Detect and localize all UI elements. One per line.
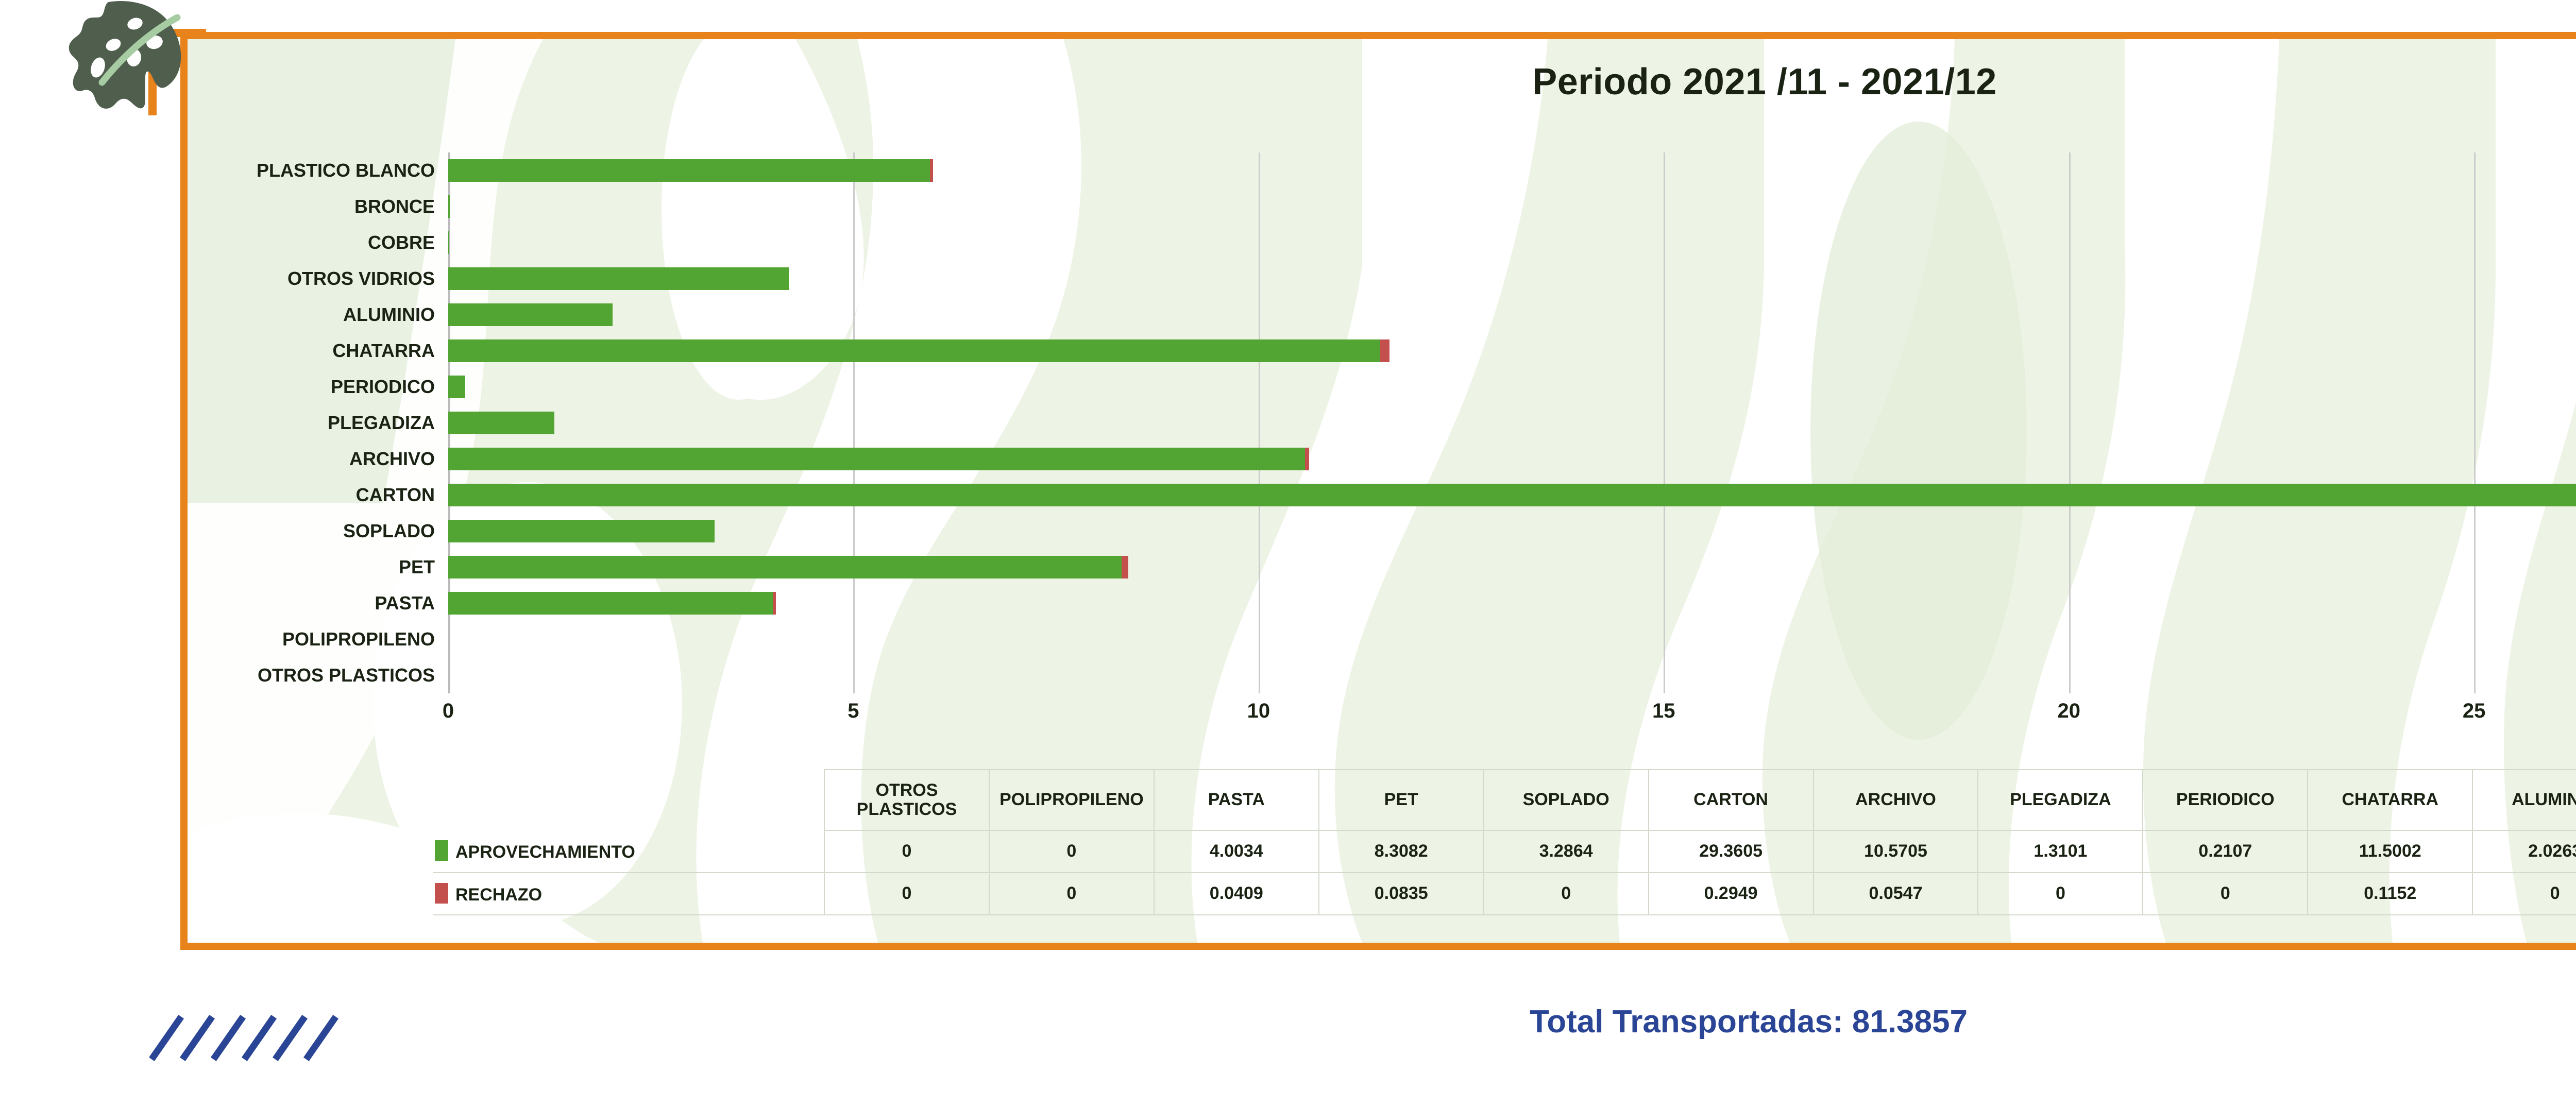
stacked-bar xyxy=(448,412,554,434)
table-cell: 0 xyxy=(989,830,1154,873)
stacked-bar xyxy=(448,556,1128,578)
bar-segment-aprovechamiento xyxy=(448,592,773,615)
chart-frame: Periodo 2021 /11 - 2021/12 0510152025303… xyxy=(180,32,2576,950)
stacked-bar xyxy=(448,231,449,254)
table-col-header-aluminio: ALUMINIO xyxy=(2472,770,2576,830)
table-cell: 2.0263 xyxy=(2472,830,2576,873)
table-col-header-carton: CARTON xyxy=(1649,770,1814,830)
bar-segment-rechazo xyxy=(1305,448,1310,470)
table-cell: 0 xyxy=(824,830,989,873)
x-tick-label-0: 0 xyxy=(443,700,454,723)
table-row-header-aprovechamiento: APROVECHAMIENTO xyxy=(433,830,824,873)
bar-segment-aprovechamiento xyxy=(448,412,554,434)
x-tick-label-15: 15 xyxy=(1652,700,1675,723)
table-cell: 0 xyxy=(824,873,989,915)
legend-label: APROVECHAMIENTO xyxy=(455,842,635,862)
y-axis-label-plegadiza: PLEGADIZA xyxy=(328,412,435,434)
y-axis-label-periodico: PERIODICO xyxy=(331,376,435,398)
bar-segment-aprovechamiento xyxy=(448,195,450,218)
leaf-logo-icon xyxy=(57,0,206,115)
table-cell: 10.5705 xyxy=(1814,830,1978,873)
y-axis-label-polipropileno: POLIPROPILENO xyxy=(282,628,435,650)
chart-category-row: ARCHIVO xyxy=(448,441,2576,477)
stacked-bar xyxy=(448,592,776,615)
bar-segment-rechazo xyxy=(930,159,934,182)
table-head: OTROS PLASTICOSPOLIPROPILENOPASTAPETSOPL… xyxy=(433,770,2576,830)
stacked-bar xyxy=(448,303,613,326)
slide-canvas: Periodo 2021 /11 - 2021/12 0510152025303… xyxy=(0,0,2576,1106)
table-cell: 4.0034 xyxy=(1154,830,1319,873)
chart-category-row: PLEGADIZA xyxy=(448,405,2576,441)
chart-category-row: PLASTICO BLANCO xyxy=(448,152,2576,189)
bar-segment-aprovechamiento xyxy=(448,484,2576,506)
chart-category-row: PERIODICO xyxy=(448,369,2576,405)
table-cell: 0 xyxy=(2143,873,2308,915)
table-header-row: OTROS PLASTICOSPOLIPROPILENOPASTAPETSOPL… xyxy=(433,770,2576,830)
bar-segment-aprovechamiento xyxy=(448,520,715,542)
chart-category-row: CARTON xyxy=(448,477,2576,513)
legend-label: RECHAZO xyxy=(455,885,542,905)
table-cell: 0 xyxy=(1978,873,2143,915)
stacked-bar xyxy=(448,159,933,182)
slash-decoration xyxy=(149,1007,397,1071)
bar-segment-rechazo xyxy=(773,592,776,615)
stacked-bar xyxy=(448,376,465,398)
y-axis-label-carton: CARTON xyxy=(356,484,435,506)
legend-swatch-aprovechamiento xyxy=(435,840,448,861)
slash-decoration-svg xyxy=(149,1007,397,1069)
data-table: OTROS PLASTICOSPOLIPROPILENOPASTAPETSOPL… xyxy=(433,769,2576,915)
y-axis-label-otros-plasticos: OTROS PLASTICOS xyxy=(258,665,435,686)
bar-segment-rechazo xyxy=(1122,556,1128,578)
table-col-header-chatarra: CHATARRA xyxy=(2308,770,2472,830)
chart-category-row: POLIPROPILENO xyxy=(448,621,2576,657)
chart-title: Periodo 2021 /11 - 2021/12 xyxy=(188,61,2576,103)
stacked-bar xyxy=(448,267,789,290)
bar-segment-aprovechamiento xyxy=(448,339,1380,362)
table-cell: 0.2107 xyxy=(2143,830,2308,873)
chart-category-row: CHATARRA xyxy=(448,333,2576,369)
x-tick-label-20: 20 xyxy=(2057,700,2080,723)
chart-category-row: COBRE xyxy=(448,225,2576,261)
y-axis-label-pet: PET xyxy=(399,556,435,578)
table-row-header-rechazo: RECHAZO xyxy=(433,873,824,915)
table-cell: 29.3605 xyxy=(1649,830,1814,873)
stacked-bar xyxy=(448,448,1309,470)
table-cell: 0 xyxy=(1484,873,1649,915)
chart-category-row: BRONCE xyxy=(448,189,2576,225)
table-row: RECHAZO000.04090.083500.29490.0547000.11… xyxy=(433,873,2576,915)
chart-category-row: SOPLADO xyxy=(448,513,2576,549)
bar-segment-aprovechamiento xyxy=(448,376,465,398)
plot-area: 05101520253035PLASTICO BLANCOBRONCECOBRE… xyxy=(448,152,2576,693)
table-col-header-pasta: PASTA xyxy=(1154,770,1319,830)
x-tick-label-25: 25 xyxy=(2463,700,2486,723)
table-cell: 0.1152 xyxy=(2308,873,2472,915)
table-cell: 0.0409 xyxy=(1154,873,1319,915)
bar-segment-aprovechamiento xyxy=(448,556,1122,578)
bar-segment-aprovechamiento xyxy=(448,231,449,254)
chart-category-row: ALUMINIO xyxy=(448,297,2576,333)
bar-segment-aprovechamiento xyxy=(448,303,613,326)
table-cell: 8.3082 xyxy=(1319,830,1484,873)
table-cell: 0 xyxy=(2472,873,2576,915)
y-axis-label-aluminio: ALUMINIO xyxy=(343,304,435,326)
table-cell: 0.2949 xyxy=(1649,873,1814,915)
y-axis-label-otros-vidrios: OTROS VIDRIOS xyxy=(287,268,435,290)
table-col-header-pet: PET xyxy=(1319,770,1484,830)
table-cell: 0.0835 xyxy=(1319,873,1484,915)
y-axis-label-archivo: ARCHIVO xyxy=(349,448,435,470)
y-axis-label-chatarra: CHATARRA xyxy=(332,340,435,362)
chart-category-row: PASTA xyxy=(448,585,2576,621)
stacked-bar xyxy=(448,339,1389,362)
y-axis-label-plastico-blanco: PLASTICO BLANCO xyxy=(257,160,435,181)
table-col-header-polipropileno: POLIPROPILENO xyxy=(989,770,1154,830)
table-body: APROVECHAMIENTO004.00348.30823.286429.36… xyxy=(433,830,2576,915)
table-cell: 0 xyxy=(989,873,1154,915)
table-col-header-plegadiza: PLEGADIZA xyxy=(1978,770,2143,830)
chart-category-row: OTROS PLASTICOS xyxy=(448,657,2576,693)
table-col-header-periodico: PERIODICO xyxy=(2143,770,2308,830)
table-cell: 3.2864 xyxy=(1484,830,1649,873)
bar-segment-aprovechamiento xyxy=(448,448,1305,470)
chart-category-row: PET xyxy=(448,549,2576,585)
y-axis-label-cobre: COBRE xyxy=(368,232,435,253)
bar-segment-rechazo xyxy=(1380,339,1389,362)
chart-category-row: OTROS VIDRIOS xyxy=(448,261,2576,297)
table-col-header-archivo: ARCHIVO xyxy=(1814,770,1978,830)
x-tick-label-5: 5 xyxy=(848,700,859,723)
x-tick-label-10: 10 xyxy=(1247,700,1270,723)
table-cell: 1.3101 xyxy=(1978,830,2143,873)
leaf-logo-svg xyxy=(57,0,206,115)
stacked-bar xyxy=(448,484,2576,506)
stacked-bar xyxy=(448,195,450,218)
table-corner-cell xyxy=(433,770,824,830)
table-col-header-soplado: SOPLADO xyxy=(1484,770,1649,830)
data-table-container: OTROS PLASTICOSPOLIPROPILENOPASTAPETSOPL… xyxy=(433,769,2576,915)
y-axis-label-pasta: PASTA xyxy=(375,592,435,614)
bar-segment-aprovechamiento xyxy=(448,267,789,290)
table-cell: 0.0547 xyxy=(1814,873,1978,915)
legend-swatch-rechazo xyxy=(435,883,448,904)
stacked-bar xyxy=(448,520,715,542)
y-axis-label-bronce: BRONCE xyxy=(354,196,435,217)
bar-segment-aprovechamiento xyxy=(448,159,930,182)
y-axis-label-soplado: SOPLADO xyxy=(343,520,435,542)
table-row: APROVECHAMIENTO004.00348.30823.286429.36… xyxy=(433,830,2576,873)
table-cell: 11.5002 xyxy=(2308,830,2472,873)
table-col-header-otros-plasticos: OTROS PLASTICOS xyxy=(824,770,989,830)
